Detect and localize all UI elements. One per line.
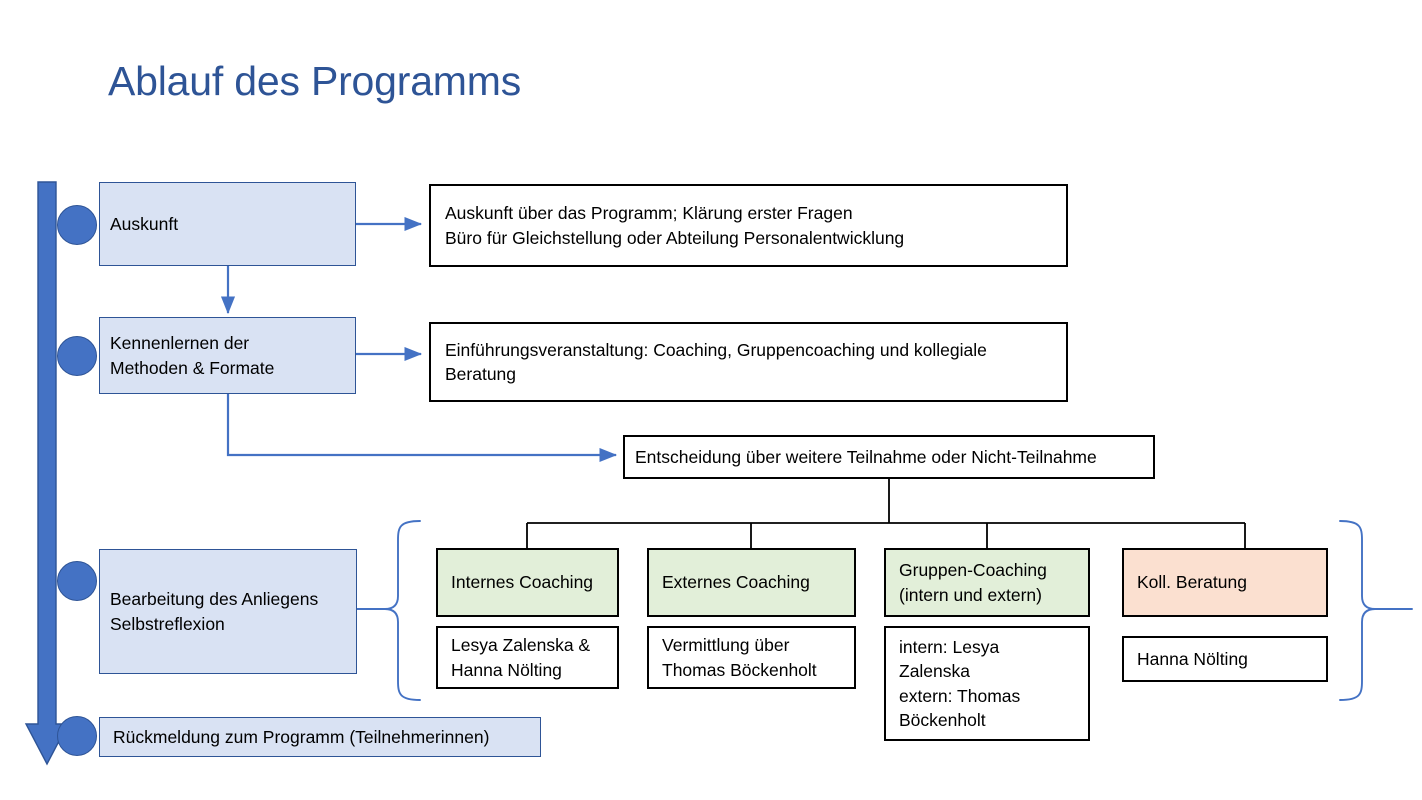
timeline-bullet-2 [57,336,97,376]
format-header-internes-coaching[interactable]: Internes Coaching [436,548,619,617]
format-header-externes-coaching[interactable]: Externes Coaching [647,548,856,617]
stage-detail-text-auskunft: Auskunft über das Programm; Klärung erst… [445,201,1056,249]
decision-box[interactable]: Entscheidung über weitere Teilnahme oder… [623,435,1155,479]
stage-detail-text-kennenlernen: Einführungsveranstaltung: Coaching, Grup… [445,338,1056,386]
slide-canvas: Ablauf des Programms Auskunft Auskunft ü… [0,0,1422,800]
tree-connector-formats [527,479,1245,548]
format-people-gruppen-coaching: intern: Lesya Zalenska extern: Thomas Bö… [884,626,1090,741]
stage-label-bearbeitung: Bearbeitung des Anliegens Selbstreflexio… [110,587,346,635]
format-people-internes-coaching: Lesya Zalenska & Hanna Nölting [436,626,619,689]
decision-label: Entscheidung über weitere Teilnahme oder… [635,445,1143,469]
format-header-koll-beratung[interactable]: Koll. Beratung [1122,548,1328,617]
format-header-label-gruppen-coaching: Gruppen-Coaching (intern und extern) [899,558,1078,606]
stage-box-rueckmeldung[interactable]: Rückmeldung zum Programm (Teilnehmerinne… [99,717,541,757]
format-people-label-externes-coaching: Vermittlung über Thomas Böckenholt [662,633,844,681]
stage-box-auskunft[interactable]: Auskunft [99,182,356,266]
format-people-externes-coaching: Vermittlung über Thomas Böckenholt [647,626,856,689]
format-header-label-externes-coaching: Externes Coaching [662,570,844,594]
format-header-gruppen-coaching[interactable]: Gruppen-Coaching (intern und extern) [884,548,1090,617]
format-people-label-gruppen-coaching: intern: Lesya Zalenska extern: Thomas Bö… [899,635,1078,732]
vertical-process-arrow [26,182,68,764]
right-curly-brace [1340,521,1412,700]
stage-box-kennenlernen[interactable]: Kennenlernen der Methoden & Formate [99,317,356,394]
format-header-label-internes-coaching: Internes Coaching [451,570,607,594]
stage-box-bearbeitung[interactable]: Bearbeitung des Anliegens Selbstreflexio… [99,549,357,674]
timeline-bullet-3 [57,561,97,601]
format-people-koll-beratung: Hanna Nölting [1122,636,1328,682]
format-people-label-internes-coaching: Lesya Zalenska & Hanna Nölting [451,633,607,681]
stage-label-rueckmeldung: Rückmeldung zum Programm (Teilnehmerinne… [113,725,530,749]
left-curly-brace [385,521,420,700]
page-title: Ablauf des Programms [108,58,521,105]
timeline-bullet-4 [57,716,97,756]
stage-label-kennenlernen: Kennenlernen der Methoden & Formate [110,331,345,379]
format-header-label-koll-beratung: Koll. Beratung [1137,570,1316,594]
arrow-kennenlernen-to-entscheidung [228,394,616,455]
timeline-bullet-1 [57,205,97,245]
stage-detail-kennenlernen: Einführungsveranstaltung: Coaching, Grup… [429,322,1068,402]
format-people-label-koll-beratung: Hanna Nölting [1137,647,1316,671]
stage-detail-auskunft: Auskunft über das Programm; Klärung erst… [429,184,1068,267]
stage-label-auskunft: Auskunft [110,212,345,236]
